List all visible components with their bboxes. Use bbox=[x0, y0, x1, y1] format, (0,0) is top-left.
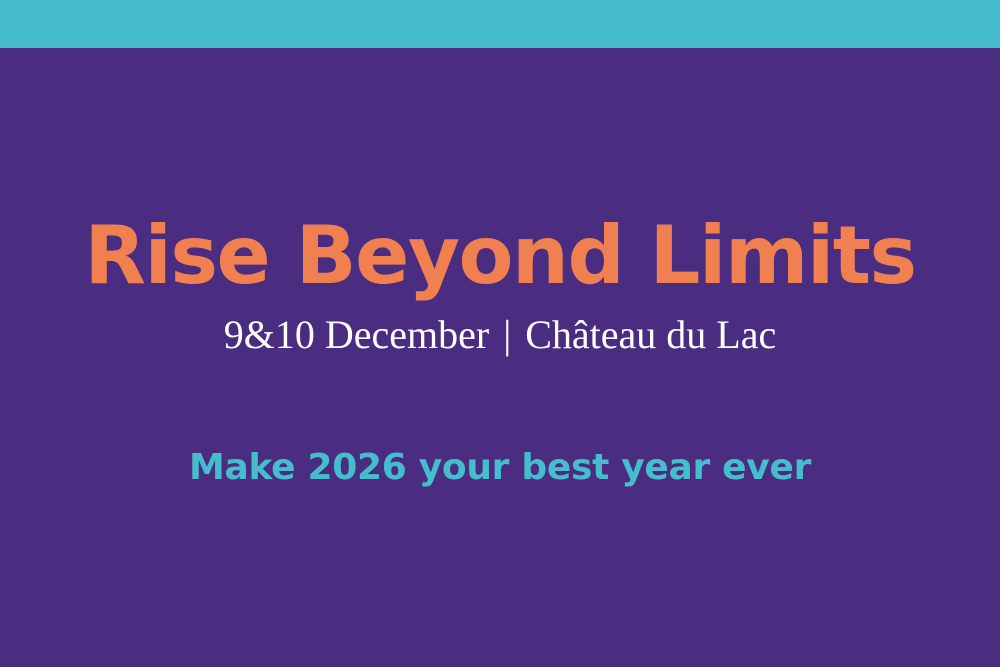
tagline-block: Make 2026 your best year ever bbox=[0, 448, 1000, 488]
event-details: 9&10 December|Château du Lac bbox=[0, 312, 1000, 358]
event-tagline: Make 2026 your best year ever bbox=[0, 448, 1000, 488]
event-banner: Rise Beyond Limits 9&10 December|Château… bbox=[0, 0, 1000, 667]
event-title: Rise Beyond Limits bbox=[0, 216, 1000, 296]
banner-content: Rise Beyond Limits 9&10 December|Château… bbox=[0, 48, 1000, 667]
detail-separator: | bbox=[489, 312, 525, 358]
event-venue: Château du Lac bbox=[525, 312, 776, 357]
headline-block: Rise Beyond Limits 9&10 December|Château… bbox=[0, 216, 1000, 358]
top-accent-bar bbox=[0, 0, 1000, 48]
event-date: 9&10 December bbox=[224, 312, 489, 357]
